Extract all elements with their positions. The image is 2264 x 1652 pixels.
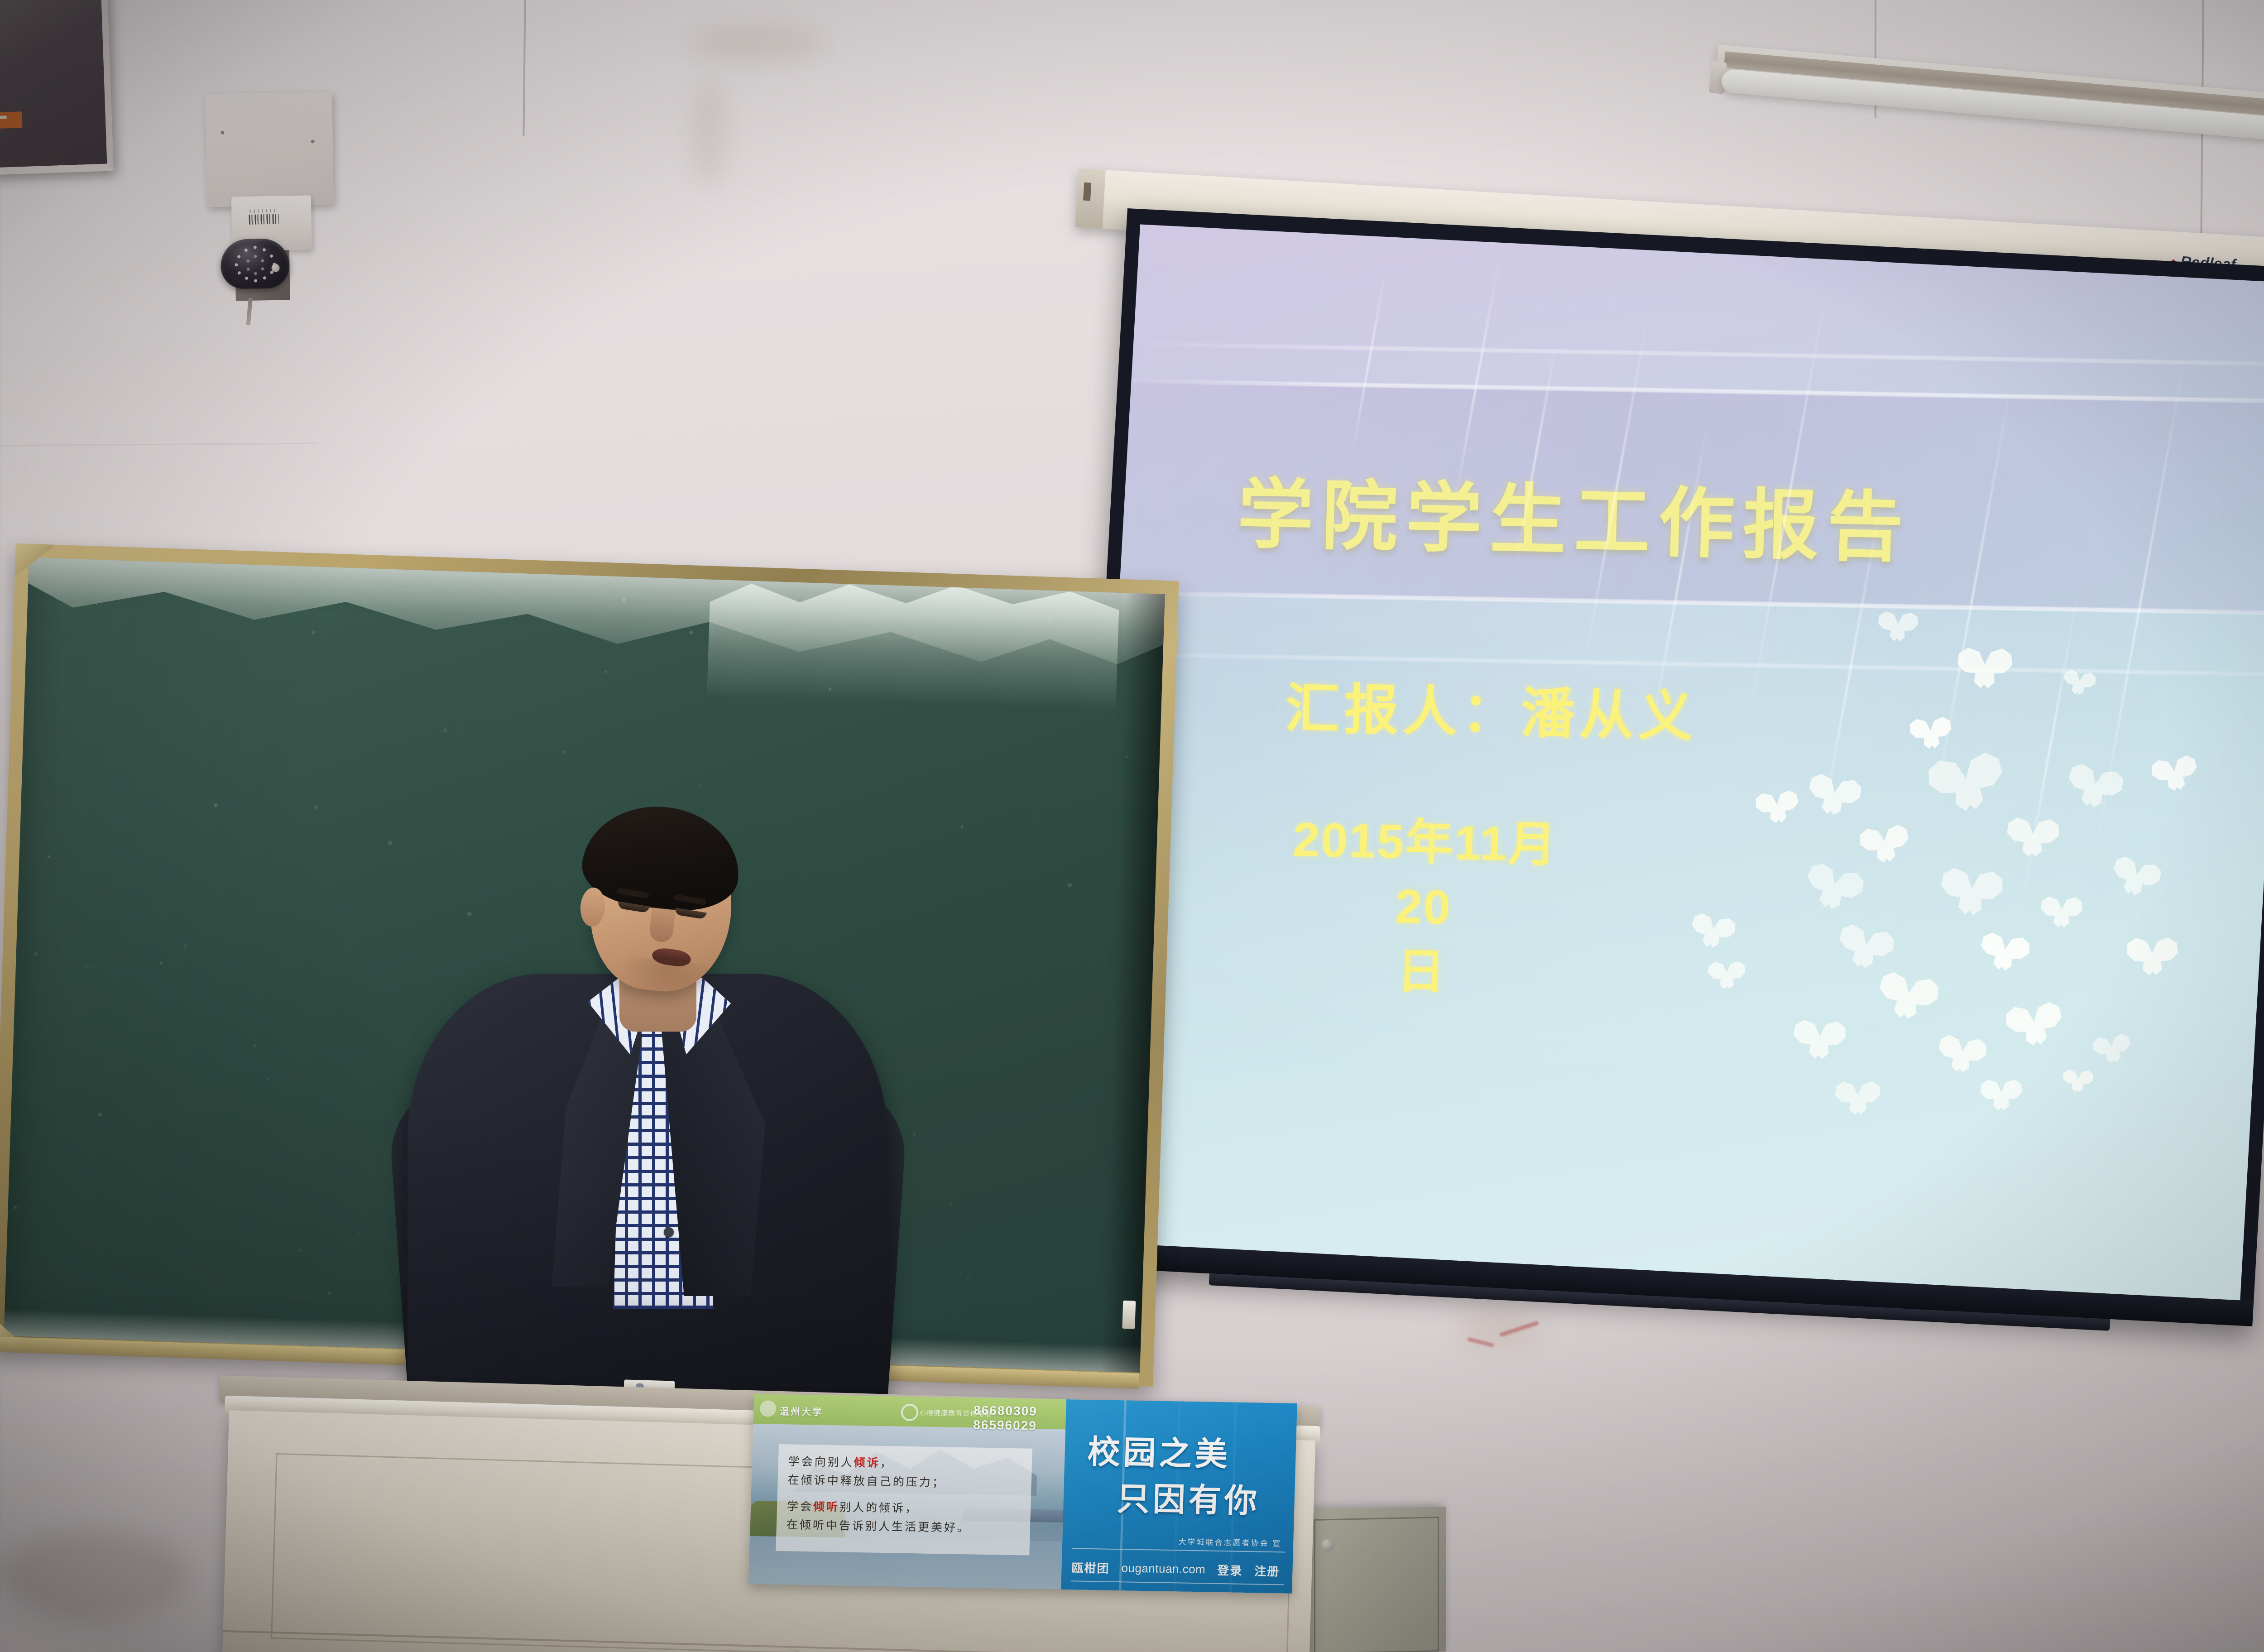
- quote-text: ，: [880, 1457, 893, 1470]
- classroom-photo-scene: Redleaf 学院学生工作报告 汇报人：潘从义 2015年11月20 日: [0, 0, 2264, 1652]
- presenter-figure: [408, 811, 887, 1445]
- wall-stain: [688, 27, 824, 59]
- chalk-speck: [143, 956, 144, 957]
- chalk-speck: [563, 750, 565, 753]
- chalk-speck: [950, 1203, 952, 1205]
- chalk-speck: [214, 805, 216, 807]
- poster-left-panel: 学会向别人倾诉， 在倾诉中释放自己的压力； 学会倾听别人的倾诉， 在倾听中告诉别…: [748, 1394, 1066, 1590]
- chalk-speck: [604, 671, 606, 673]
- chalk-speck: [1080, 920, 1082, 921]
- chalk-speck: [388, 840, 392, 845]
- dome-camera-icon: [220, 238, 290, 289]
- security-camera-assembly: [205, 92, 334, 207]
- screen-housing-endcap: [1075, 168, 1106, 229]
- poster-footer: 瓯柑团 ougantuan.com 登录 注册: [1071, 1559, 1287, 1579]
- projection-screen-surface: 学院学生工作报告 汇报人：潘从义 2015年11月20 日: [1082, 224, 2264, 1300]
- hotline-numbers: 86680309 86596029: [973, 1403, 1066, 1434]
- slide-presenter-line: 汇报人：潘从义: [1284, 664, 1698, 752]
- poster-register-link[interactable]: 注册: [1254, 1562, 1280, 1579]
- university-name: 温州大学: [780, 1404, 824, 1419]
- poster-rule: [1072, 1548, 1285, 1552]
- chalk-speck: [913, 1133, 916, 1136]
- chalk-speck: [699, 784, 701, 787]
- chalk-speck: [98, 1113, 101, 1117]
- chalk-speck: [359, 1233, 361, 1235]
- quote-text: 在倾诉中释放自己的压力；: [787, 1474, 945, 1489]
- chalk-speck: [314, 805, 318, 809]
- chalk-speck: [327, 1291, 331, 1295]
- quote-highlight: 倾听: [813, 1500, 840, 1513]
- chalk-speck: [1068, 883, 1072, 887]
- ir-led-icon: [254, 279, 257, 283]
- chalk-speck: [14, 1205, 17, 1209]
- poster-organization: 大学城联合志愿者协会 宣: [1178, 1535, 1281, 1548]
- chalk-speck: [443, 729, 447, 732]
- chalk-speck: [160, 961, 163, 964]
- poster-rule: [1071, 1580, 1284, 1585]
- chalk-speck: [961, 826, 964, 828]
- camera-mounting-plate: [205, 92, 334, 207]
- blackboard-clip: [1122, 1301, 1136, 1329]
- ir-led-icon: [261, 267, 264, 270]
- poster-green-header: 温州大学 心理健康教育咨询电话 86680309 86596029: [753, 1394, 1066, 1429]
- wall-stain: [693, 82, 724, 186]
- chalk-speck: [253, 1044, 256, 1047]
- chalk-speck: [689, 630, 693, 634]
- chalk-speck: [183, 944, 187, 948]
- chalk-speck: [130, 935, 131, 936]
- slide-title: 学院学生工作报告: [1236, 452, 1913, 576]
- quote-highlight: 倾诉: [854, 1456, 880, 1470]
- chalk-speck: [257, 1202, 259, 1204]
- poster-url[interactable]: ougantuan.com: [1121, 1561, 1206, 1576]
- ir-led-icon: [246, 259, 249, 263]
- poster-headline-2: 只因有你: [1117, 1472, 1261, 1522]
- chalk-speck: [967, 1277, 969, 1278]
- chalk-speck: [195, 617, 196, 619]
- poster-right-panel: 校园之美 只因有你 大学城联合志愿者协会 宣 瓯柑团 ougantuan.com…: [1061, 1399, 1297, 1594]
- ir-led-icon: [238, 271, 241, 274]
- ir-led-icon: [263, 248, 266, 251]
- slide-date-line-1: 2015年11月20: [1278, 807, 1571, 942]
- barcode-label: [249, 214, 279, 225]
- chalk-speck: [433, 582, 436, 585]
- poster-quote-box: 学会向别人倾诉， 在倾诉中释放自己的压力； 学会倾听别人的倾诉， 在倾听中告诉别…: [776, 1444, 1032, 1556]
- slide-date-line-2: 日: [1276, 936, 1568, 1007]
- chalk-speck: [48, 855, 51, 858]
- metal-cabinet: [1306, 1507, 1446, 1652]
- ceiling-speaker: [0, 0, 114, 175]
- poster-brand: 瓯柑团: [1071, 1559, 1110, 1576]
- wall-stain: [0, 1531, 190, 1621]
- projection-screen-frame: 学院学生工作报告 汇报人：潘从义 2015年11月20 日: [1067, 208, 2264, 1326]
- ir-led-icon: [270, 255, 273, 258]
- ir-led-icon: [245, 277, 248, 280]
- ir-led-icon: [254, 272, 257, 275]
- ir-led-icon: [263, 276, 266, 279]
- phone-icon: [901, 1404, 918, 1421]
- quote-text: 在倾听中告诉别人生活更美好。: [787, 1518, 971, 1534]
- cabinet-door[interactable]: [1314, 1517, 1439, 1652]
- quote-text: 别人的倾诉，: [839, 1501, 919, 1515]
- chalk-speck: [287, 1192, 289, 1194]
- chalk-speck: [1122, 703, 1123, 705]
- university-logo-icon: [760, 1400, 777, 1417]
- ir-led-icon: [254, 246, 257, 249]
- ir-led-icon: [247, 268, 250, 271]
- chalk-speck: [44, 1296, 47, 1299]
- chalk-speck: [86, 965, 90, 970]
- speaker-label: [0, 111, 23, 129]
- ir-led-icon: [261, 259, 264, 262]
- chalk-speck: [267, 1078, 269, 1080]
- ir-led-icon: [235, 263, 238, 266]
- slide-date: 2015年11月20 日: [1276, 807, 1571, 1007]
- screw-icon: [221, 131, 224, 134]
- campus-poster: 学会向别人倾诉， 在倾诉中释放自己的压力； 学会倾听别人的倾诉， 在倾听中告诉别…: [748, 1394, 1297, 1594]
- chalk-speck: [942, 652, 944, 653]
- jacket-button: [664, 1227, 674, 1237]
- poster-login-link[interactable]: 登录: [1217, 1561, 1243, 1579]
- poster-headline-1: 校园之美: [1087, 1425, 1231, 1475]
- chalk-speck: [312, 630, 315, 634]
- ir-led-icon: [237, 255, 240, 258]
- quote-text: 学会: [787, 1500, 814, 1513]
- screw-icon: [311, 139, 315, 143]
- chalk-speck: [297, 1249, 302, 1253]
- chalk-speck: [96, 603, 98, 605]
- quote-text: 学会向别人: [788, 1455, 854, 1469]
- ir-led-icon: [254, 255, 257, 258]
- poster-quote-line: 在倾诉中释放自己的压力；: [787, 1471, 1022, 1493]
- chalk-speck: [111, 800, 113, 801]
- ir-led-icon: [245, 249, 248, 252]
- chalk-speck: [364, 600, 366, 602]
- poster-quote-line: 在倾听中告诉别人生活更美好。: [786, 1516, 1020, 1538]
- chalk-speck: [34, 952, 38, 956]
- chalk-speck: [103, 1109, 105, 1111]
- chalk-speck: [266, 1227, 268, 1229]
